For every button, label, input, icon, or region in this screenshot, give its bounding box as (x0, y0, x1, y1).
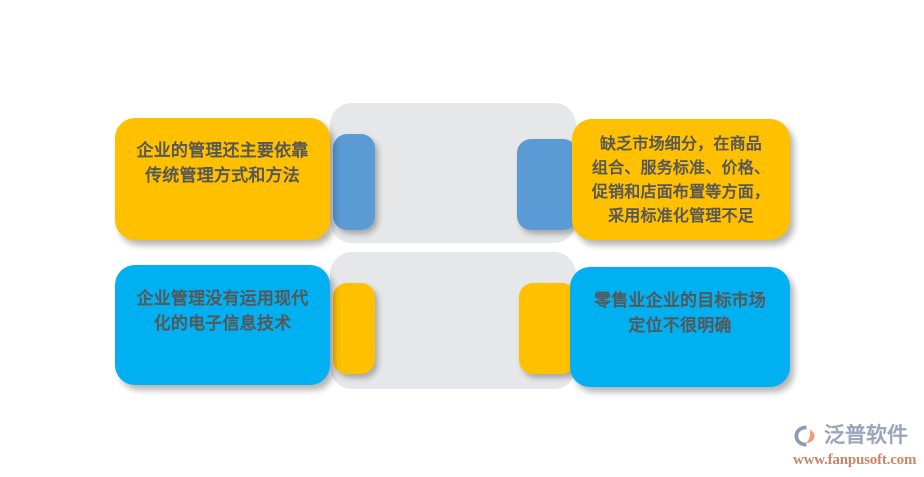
watermark-logo: 泛普软件 www.fanpusoft.com (793, 421, 917, 471)
callout-text-top-left: 企业的管理还主要依靠 传统管理方式和方法 (127, 138, 319, 188)
watermark-url: www.fanpusoft.com (793, 451, 917, 469)
callout-text-top-right: 缺乏市场细分，在商品 组合、服务标准、价格、 促销和店面布置等方面， 采用标准化… (582, 133, 780, 229)
watermark-brand-name: 泛普软件 (824, 423, 908, 449)
callout-text-bottom-right: 零售业企业的目标市场 定位不很明确 (584, 288, 776, 338)
fanpu-logo-icon (793, 423, 821, 449)
callout-box-bottom-left[interactable]: 企业管理没有运用现代 化的电子信息技术 (115, 265, 330, 385)
accent-tab-top-left (333, 134, 375, 230)
callout-box-top-left[interactable]: 企业的管理还主要依靠 传统管理方式和方法 (115, 118, 330, 240)
callout-box-top-right[interactable]: 缺乏市场细分，在商品 组合、服务标准、价格、 促销和店面布置等方面， 采用标准化… (572, 119, 790, 240)
callout-text-bottom-left: 企业管理没有运用现代 化的电子信息技术 (127, 286, 319, 336)
accent-tab-top-right (517, 139, 577, 230)
callout-box-bottom-right[interactable]: 零售业企业的目标市场 定位不很明确 (570, 267, 790, 387)
accent-tab-bottom-right (519, 283, 576, 374)
accent-tab-bottom-left (333, 283, 375, 374)
diagram-canvas: 企业的管理还主要依靠 传统管理方式和方法 缺乏市场细分，在商品 组合、服务标准、… (0, 0, 924, 477)
watermark-brand-row: 泛普软件 (793, 421, 917, 451)
